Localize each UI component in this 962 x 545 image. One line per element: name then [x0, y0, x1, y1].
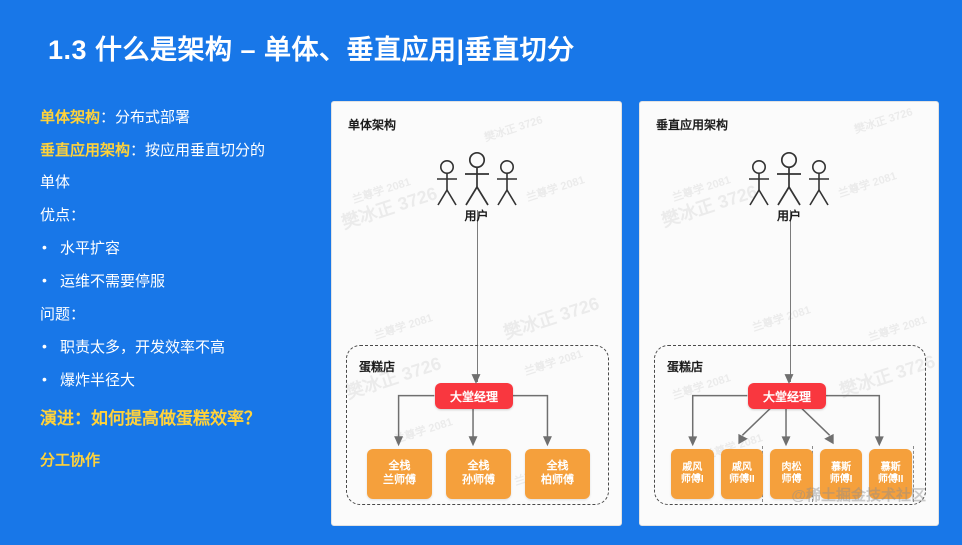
stick-figure-row — [332, 149, 621, 207]
text-line-evolution-question: 演进：如何提高做蛋糕效率？ — [40, 410, 320, 427]
shop-label-vertical: 蛋糕店 — [667, 358, 703, 375]
users-group-vertical: 用户 — [640, 149, 938, 224]
bullet-no-downtime-ops: 运维不需要停服 — [40, 274, 320, 289]
worker-line1: 戚风 — [682, 462, 702, 475]
worker-node[interactable]: 全栈 兰师傅 — [367, 449, 432, 499]
text-line-pros-heading: 优点： — [40, 208, 320, 223]
worker-line1: 肉松 — [781, 462, 801, 475]
stick-figure-icon — [774, 151, 804, 207]
slide-canvas: 1.3 什么是架构 – 单体、垂直应用|垂直切分 单体架构：分布式部署 垂直应用… — [0, 0, 962, 545]
shop-label-monolith: 蛋糕店 — [359, 358, 395, 375]
manager-node-vertical[interactable]: 大堂经理 — [748, 383, 826, 409]
worker-line1: 慕斯 — [831, 462, 851, 475]
text-line-vertical-app: 垂直应用架构：按应用垂直切分的 — [40, 143, 320, 158]
diagram-panel-monolith: 樊冰正 3726 兰尊学 2081 樊冰正 3726 兰尊学 2081 樊冰正 … — [331, 101, 622, 526]
worker-node[interactable]: 戚风 师傅II — [721, 449, 764, 499]
watermark-text: 樊冰正 3726 — [482, 111, 545, 145]
worker-line1: 慕斯 — [881, 462, 901, 475]
text-column: 单体架构：分布式部署 垂直应用架构：按应用垂直切分的 单体 优点： 水平扩容 运… — [40, 110, 320, 468]
users-label-vertical: 用户 — [640, 207, 938, 224]
text-line-division-of-labor: 分工协作 — [40, 453, 320, 468]
stick-figure-row — [640, 149, 938, 207]
panel-title-vertical-app: 垂直应用架构 — [656, 116, 728, 133]
bullet-blast-radius: 爆炸半径大 — [40, 373, 320, 388]
watermark-text: 樊冰正 3726 — [852, 103, 915, 137]
worker-node[interactable]: 全栈 柏师傅 — [525, 449, 590, 499]
page-title: 1.3 什么是架构 – 单体、垂直应用|垂直切分 — [48, 28, 575, 67]
worker-node[interactable]: 全栈 孙师傅 — [446, 449, 511, 499]
users-label-monolith: 用户 — [332, 207, 621, 224]
brand-watermark: @稀土掘金技术社区 — [791, 484, 926, 505]
text-line-monolith: 单体架构：分布式部署 — [40, 110, 320, 125]
stick-figure-icon — [434, 159, 460, 207]
worker-line1: 全栈 — [547, 460, 569, 474]
worker-line2: 师傅I — [681, 474, 704, 487]
diagram-panel-vertical-app: 樊冰正 3726 兰尊学 2081 兰尊学 2081 樊冰正 3726 兰尊学 … — [639, 101, 939, 526]
text-line-problems-heading: 问题： — [40, 307, 320, 322]
worker-line2: 师傅II — [729, 474, 755, 487]
text-monolith-rest: ：分布式部署 — [100, 109, 190, 126]
worker-node[interactable]: 戚风 师傅I — [671, 449, 714, 499]
manager-node-monolith[interactable]: 大堂经理 — [435, 383, 513, 409]
panel-title-monolith: 单体架构 — [348, 116, 396, 133]
watermark-text: 兰尊学 2081 — [866, 311, 929, 345]
worker-line1: 全栈 — [468, 460, 490, 474]
users-group-monolith: 用户 — [332, 149, 621, 224]
keyword-vertical-app: 垂直应用架构 — [40, 142, 130, 159]
text-vertical-app-rest: ：按应用垂直切分的 — [130, 142, 265, 159]
keyword-monolith: 单体架构 — [40, 109, 100, 126]
watermark-text: 樊冰正 3726 — [500, 289, 602, 344]
shop-container-monolith: 蛋糕店 大堂经理 — [346, 345, 609, 505]
worker-line1: 全栈 — [389, 460, 411, 474]
worker-line2: 兰师傅 — [383, 474, 416, 488]
bullet-horizontal-scaling: 水平扩容 — [40, 241, 320, 256]
stick-figure-icon — [746, 159, 772, 207]
workers-row-monolith: 全栈 兰师傅 全栈 孙师傅 全栈 柏师傅 — [367, 449, 591, 499]
stick-figure-icon — [806, 159, 832, 207]
text-line-monolith-cont: 单体 — [40, 175, 320, 190]
watermark-text: 兰尊学 2081 — [750, 301, 813, 335]
stick-figure-icon — [462, 151, 492, 207]
watermark-text: 兰尊学 2081 — [372, 309, 435, 343]
worker-line2: 孙师傅 — [462, 474, 495, 488]
worker-line1: 戚风 — [732, 462, 752, 475]
bullet-too-many-duties: 职责太多，开发效率不高 — [40, 340, 320, 355]
worker-line2: 柏师傅 — [541, 474, 574, 488]
stick-figure-icon — [494, 159, 520, 207]
shop-container-vertical: 蛋糕店 大堂经理 — [654, 345, 926, 505]
